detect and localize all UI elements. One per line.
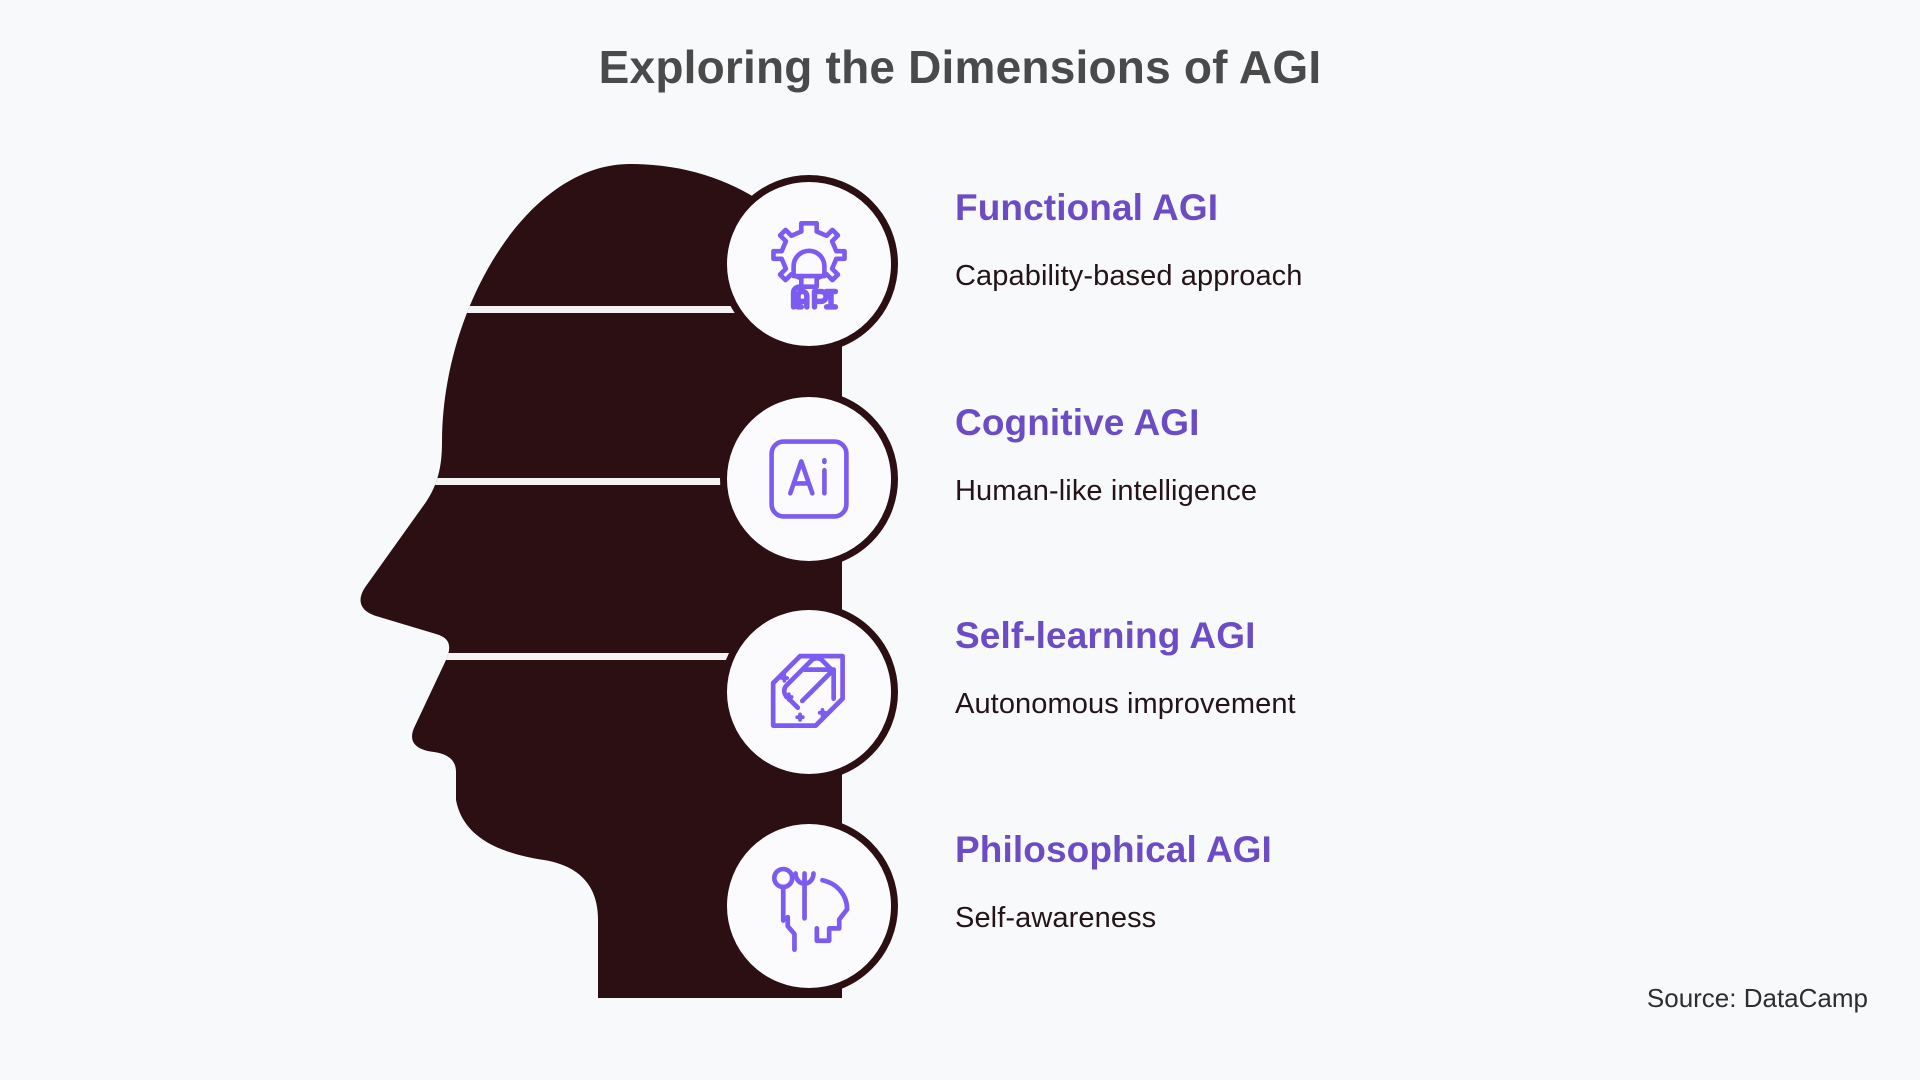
infographic-canvas: Exploring the Dimensions of AGI: [0, 0, 1920, 1080]
dimension-text-block: Functional AGI Capability-based approach: [955, 187, 1815, 293]
dimension-heading: Cognitive AGI: [955, 402, 1815, 445]
dimension-subtitle: Self-awareness: [955, 902, 1815, 935]
source-attribution: Source: DataCamp: [1647, 983, 1868, 1014]
dimension-heading: Self-learning AGI: [955, 615, 1815, 658]
sparkle-arrow-up-right-icon: [720, 603, 898, 781]
dimension-heading: Philosophical AGI: [955, 829, 1815, 872]
dimension-row-functional[interactable]: Functional AGI Capability-based approach: [720, 175, 1820, 365]
dimension-subtitle: Human-like intelligence: [955, 475, 1815, 508]
page-title: Exploring the Dimensions of AGI: [0, 40, 1920, 94]
ai-square-icon: [720, 390, 898, 568]
dimension-heading: Functional AGI: [955, 187, 1815, 230]
dimension-text-block: Philosophical AGI Self-awareness: [955, 829, 1815, 935]
dimension-text-block: Cognitive AGI Human-like intelligence: [955, 402, 1815, 508]
dimension-row-philosophical[interactable]: Philosophical AGI Self-awareness: [720, 817, 1820, 1007]
dimension-subtitle: Capability-based approach: [955, 260, 1815, 293]
dimension-row-cognitive[interactable]: Cognitive AGI Human-like intelligence: [720, 390, 1820, 580]
dimension-text-block: Self-learning AGI Autonomous improvement: [955, 615, 1815, 721]
gear-api-icon: [720, 175, 898, 353]
dimension-subtitle: Autonomous improvement: [955, 688, 1815, 721]
dimension-row-self-learning[interactable]: Self-learning AGI Autonomous improvement: [720, 603, 1820, 793]
philosophy-head-icon: [720, 817, 898, 995]
